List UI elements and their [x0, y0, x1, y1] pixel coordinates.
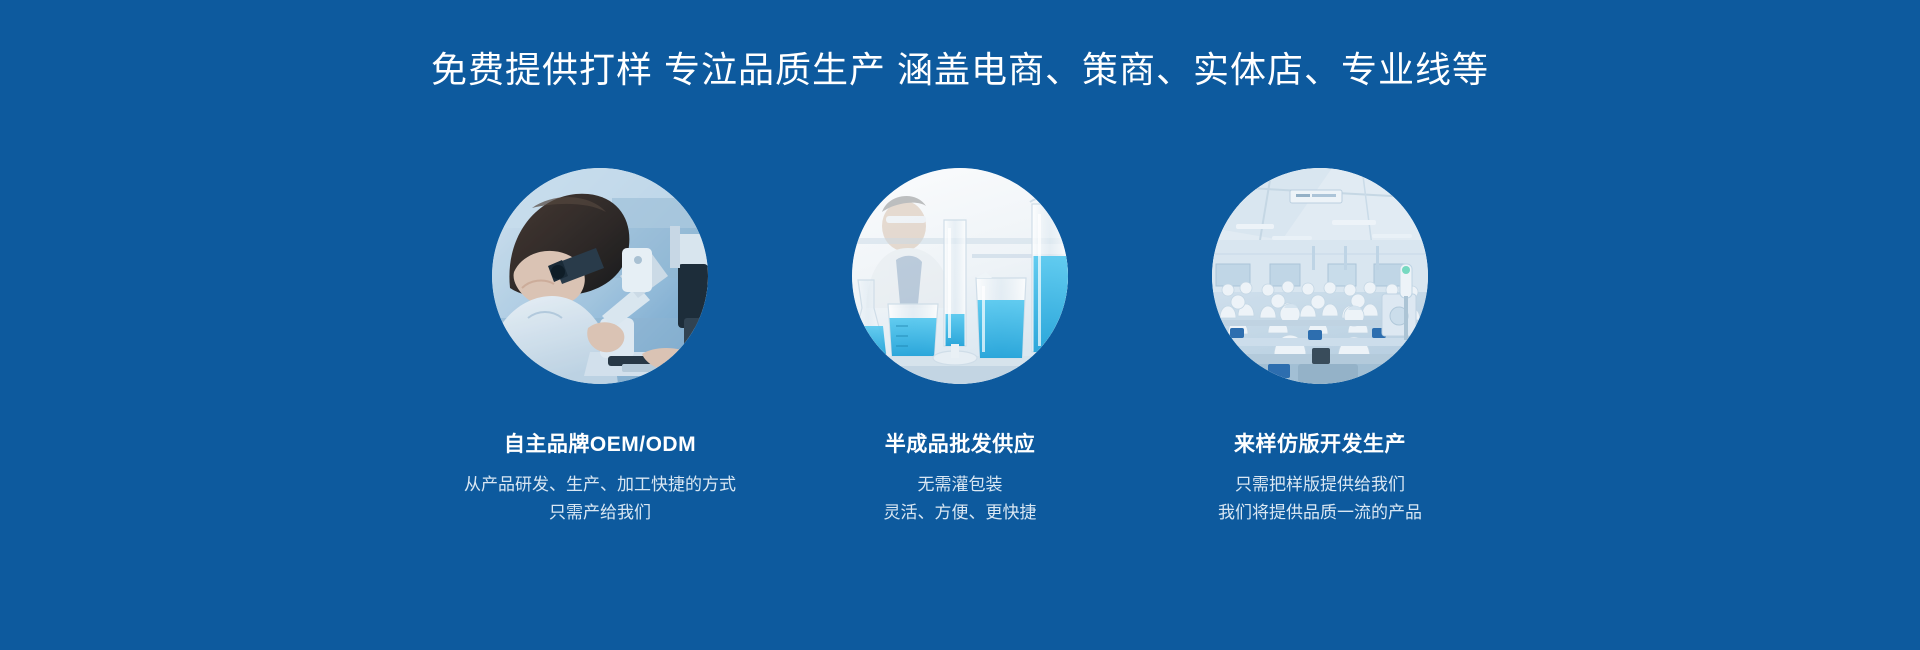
- card-description-line-2: 只需产给我们: [464, 499, 736, 527]
- feature-card-semi-finished[interactable]: 半成品批发供应 无需灌包装 灵活、方便、更快捷: [810, 168, 1110, 527]
- card-description-line-1: 只需把样版提供给我们: [1218, 471, 1422, 499]
- card-description-line-1: 无需灌包装: [884, 471, 1037, 499]
- banner-headline: 免费提供打样 专泣品质生产 涵盖电商、策商、实体店、专业线等: [0, 48, 1920, 91]
- card-description: 从产品研发、生产、加工快捷的方式 只需产给我们: [464, 471, 736, 527]
- promo-banner: 免费提供打样 专泣品质生产 涵盖电商、策商、实体店、专业线等: [0, 0, 1920, 650]
- card-title: 来样仿版开发生产: [1234, 432, 1406, 457]
- feature-card-oem-odm[interactable]: 自主品牌OEM/ODM 从产品研发、生产、加工快捷的方式 只需产给我们: [450, 168, 750, 527]
- cleanroom-production-photo: [1212, 168, 1428, 384]
- card-description-line-2: 我们将提供品质一流的产品: [1218, 499, 1422, 527]
- card-title: 半成品批发供应: [885, 432, 1036, 457]
- card-description: 无需灌包装 灵活、方便、更快捷: [884, 471, 1037, 527]
- card-description-line-2: 灵活、方便、更快捷: [884, 499, 1037, 527]
- feature-card-sample-copy[interactable]: 来样仿版开发生产 只需把样版提供给我们 我们将提供品质一流的产品: [1170, 168, 1470, 527]
- card-description-line-1: 从产品研发、生产、加工快捷的方式: [464, 471, 736, 499]
- card-title: 自主品牌OEM/ODM: [504, 432, 696, 457]
- scientist-microscope-photo: [492, 168, 708, 384]
- lab-glassware-photo: [852, 168, 1068, 384]
- card-description: 只需把样版提供给我们 我们将提供品质一流的产品: [1218, 471, 1422, 527]
- feature-cards: 自主品牌OEM/ODM 从产品研发、生产、加工快捷的方式 只需产给我们: [450, 168, 1470, 527]
